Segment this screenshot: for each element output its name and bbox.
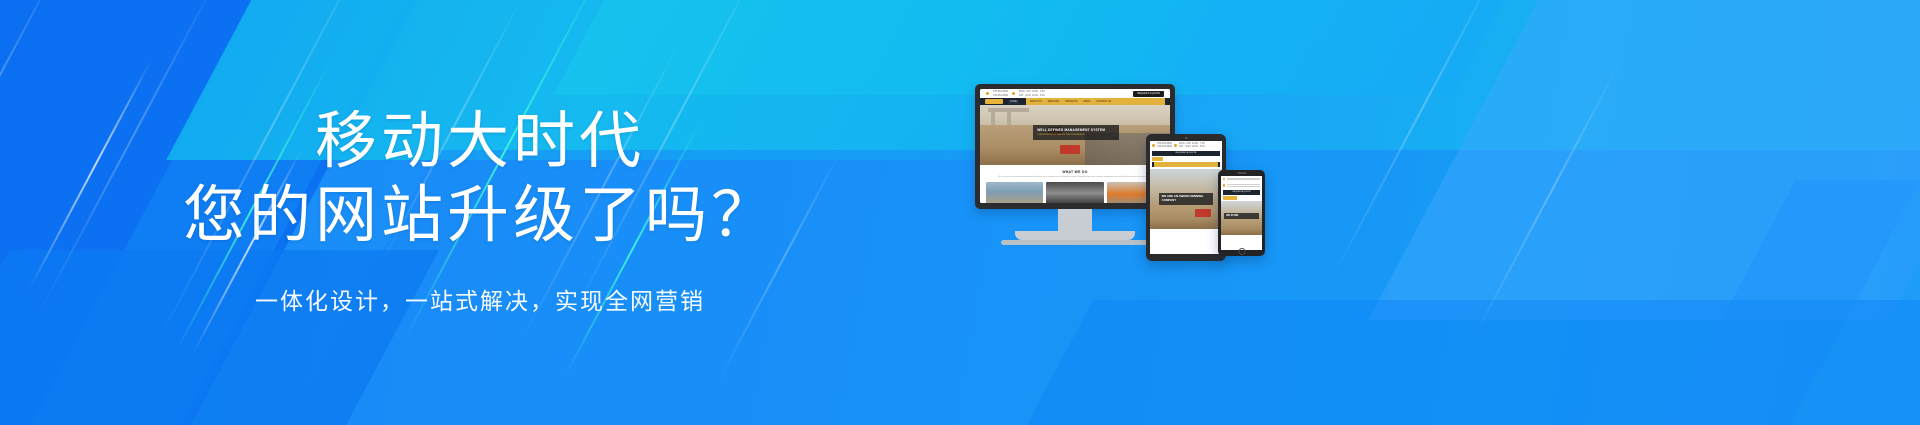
tablet-hero-image: WE ARE AN AWARD-WINNING COMPANY xyxy=(1150,169,1222,229)
tablet-screen: 378-654-6609 378-654-6609 MON - FRI: 10:… xyxy=(1150,141,1222,254)
home-button-icon[interactable] xyxy=(1238,248,1245,255)
topbar-hours: MON - FRI: 10:00 - 7:00 SAT - SUN: 10:00… xyxy=(1019,90,1045,96)
nav-item-contact[interactable]: CONTACT US xyxy=(1096,101,1111,103)
service-card-image[interactable] xyxy=(986,182,1043,203)
monitor-bezel: 378-654-6609 378-654-6609 MON - FRI: 10:… xyxy=(975,84,1175,209)
phone-icon xyxy=(986,92,989,95)
banner-subline: 一体化设计，一站式解决，实现全网营销 xyxy=(255,282,705,316)
nav-item-about[interactable]: ABOUT US xyxy=(1030,101,1042,103)
what-we-do-text: We construct and provide professional so… xyxy=(986,176,1164,179)
nav-item-projects[interactable]: PROJECTS xyxy=(1065,101,1077,103)
headline-line-2: 您的网站升级了吗？ xyxy=(183,183,777,248)
site-what-we-do: WHAT WE DO We construct and provide prof… xyxy=(980,165,1170,203)
phone-site-logo[interactable] xyxy=(1223,196,1237,200)
hero-ground xyxy=(1221,219,1262,235)
phone-numbers xyxy=(1227,178,1260,181)
phone-hero-title: WE STAND xyxy=(1226,215,1256,218)
phone-screen: REQUEST A QUOTE WE STAND xyxy=(1221,176,1262,250)
phone-hero-image: WE STAND xyxy=(1221,201,1262,235)
speaker-icon xyxy=(1237,172,1246,174)
clock-icon xyxy=(1223,184,1225,186)
phone-icon xyxy=(1223,178,1225,180)
tablet-hero-caption: WE ARE AN AWARD-WINNING COMPANY xyxy=(1159,193,1214,205)
site-nav: HOME ABOUT US SERVICES PROJECTS NEWS CON… xyxy=(980,98,1170,105)
phone-content-area xyxy=(1221,235,1262,245)
tablet-navbar xyxy=(1152,162,1220,167)
phone-hero-caption: WE STAND xyxy=(1224,213,1258,219)
device-mockups: 378-654-6609 378-654-6609 MON - FRI: 10:… xyxy=(950,0,1650,425)
monitor-stand-neck xyxy=(1058,209,1092,231)
nav-item-services[interactable]: SERVICES xyxy=(1048,101,1060,103)
banner-copy: 移动大时代 您的网站升级了吗？ 一体化设计，一站式解决，实现全网营销 xyxy=(0,0,960,425)
tablet-topbar: 378-654-6609 378-654-6609 MON - FRI: 10:… xyxy=(1150,141,1222,149)
phone-icon xyxy=(1152,144,1155,147)
tablet-site-logo[interactable] xyxy=(1152,157,1163,161)
banner-headline: 移动大时代 您的网站升级了吗？ xyxy=(183,109,777,247)
headline-line-1: 移动大时代 xyxy=(183,109,777,174)
phone-hours-row xyxy=(1221,182,1262,188)
hero-subtitle: OUR EXPERIENCE MAKES THE DIFFERENCE xyxy=(1037,134,1115,137)
monitor-stand-foot xyxy=(1001,240,1149,245)
nav-item-home[interactable]: HOME xyxy=(1008,100,1019,104)
nav-item-news[interactable]: NEWS xyxy=(1083,101,1090,103)
tablet-request-quote-button[interactable]: REQUEST A QUOTE xyxy=(1152,151,1220,156)
phone-mockup: REQUEST A QUOTE WE STAND xyxy=(1218,170,1265,256)
phone-hours xyxy=(1227,184,1260,187)
monitor-website: 378-654-6609 378-654-6609 MON - FRI: 10:… xyxy=(980,89,1170,203)
hero-caption: WELL DEFINED MANAGEMENT SYSTEM OUR EXPER… xyxy=(1033,125,1119,140)
topbar-phone: 378-654-6609 378-654-6609 xyxy=(993,90,1008,96)
phone-request-quote-button[interactable]: REQUEST A QUOTE xyxy=(1223,190,1260,194)
tablet-nav xyxy=(1152,157,1220,161)
nav-items-group: ABOUT US SERVICES PROJECTS NEWS CONTACT … xyxy=(1026,98,1165,105)
service-card-image[interactable] xyxy=(1046,182,1103,203)
camera-icon xyxy=(1185,137,1188,140)
hero-excavator xyxy=(1195,209,1211,217)
what-we-do-cards xyxy=(986,182,1164,203)
hero-bulldozer xyxy=(1060,145,1080,154)
hero-bridge-deck xyxy=(988,108,1030,112)
tablet-hours: MON - FRI: 10:00 - 7:00 SAT - SUN: 10:00… xyxy=(1179,142,1205,148)
request-quote-button[interactable]: REQUEST A QUOTE xyxy=(1133,91,1164,97)
tablet-mockup: 378-654-6609 378-654-6609 MON - FRI: 10:… xyxy=(1146,134,1226,261)
hero-ground xyxy=(1150,203,1222,229)
site-hero-image: WELL DEFINED MANAGEMENT SYSTEM OUR EXPER… xyxy=(980,105,1170,165)
monitor-stand-base xyxy=(1015,231,1135,240)
hero-title: WELL DEFINED MANAGEMENT SYSTEM xyxy=(1037,128,1115,132)
what-we-do-title: WHAT WE DO xyxy=(986,170,1164,174)
promo-banner: 移动大时代 您的网站升级了吗？ 一体化设计，一站式解决，实现全网营销 378-6… xyxy=(0,0,1920,425)
clock-icon xyxy=(1174,144,1177,147)
site-topbar: 378-654-6609 378-654-6609 MON - FRI: 10:… xyxy=(980,89,1170,98)
tablet-navbar-highlight[interactable] xyxy=(1154,162,1218,167)
clock-icon xyxy=(1012,92,1015,95)
site-logo[interactable] xyxy=(985,99,1003,104)
monitor-screen: 378-654-6609 378-654-6609 MON - FRI: 10:… xyxy=(980,89,1170,203)
desktop-monitor-mockup: 378-654-6609 378-654-6609 MON - FRI: 10:… xyxy=(975,84,1175,245)
tablet-hero-title: WE ARE AN AWARD-WINNING COMPANY xyxy=(1162,195,1211,203)
tablet-phone: 378-654-6609 378-654-6609 xyxy=(1157,142,1172,148)
